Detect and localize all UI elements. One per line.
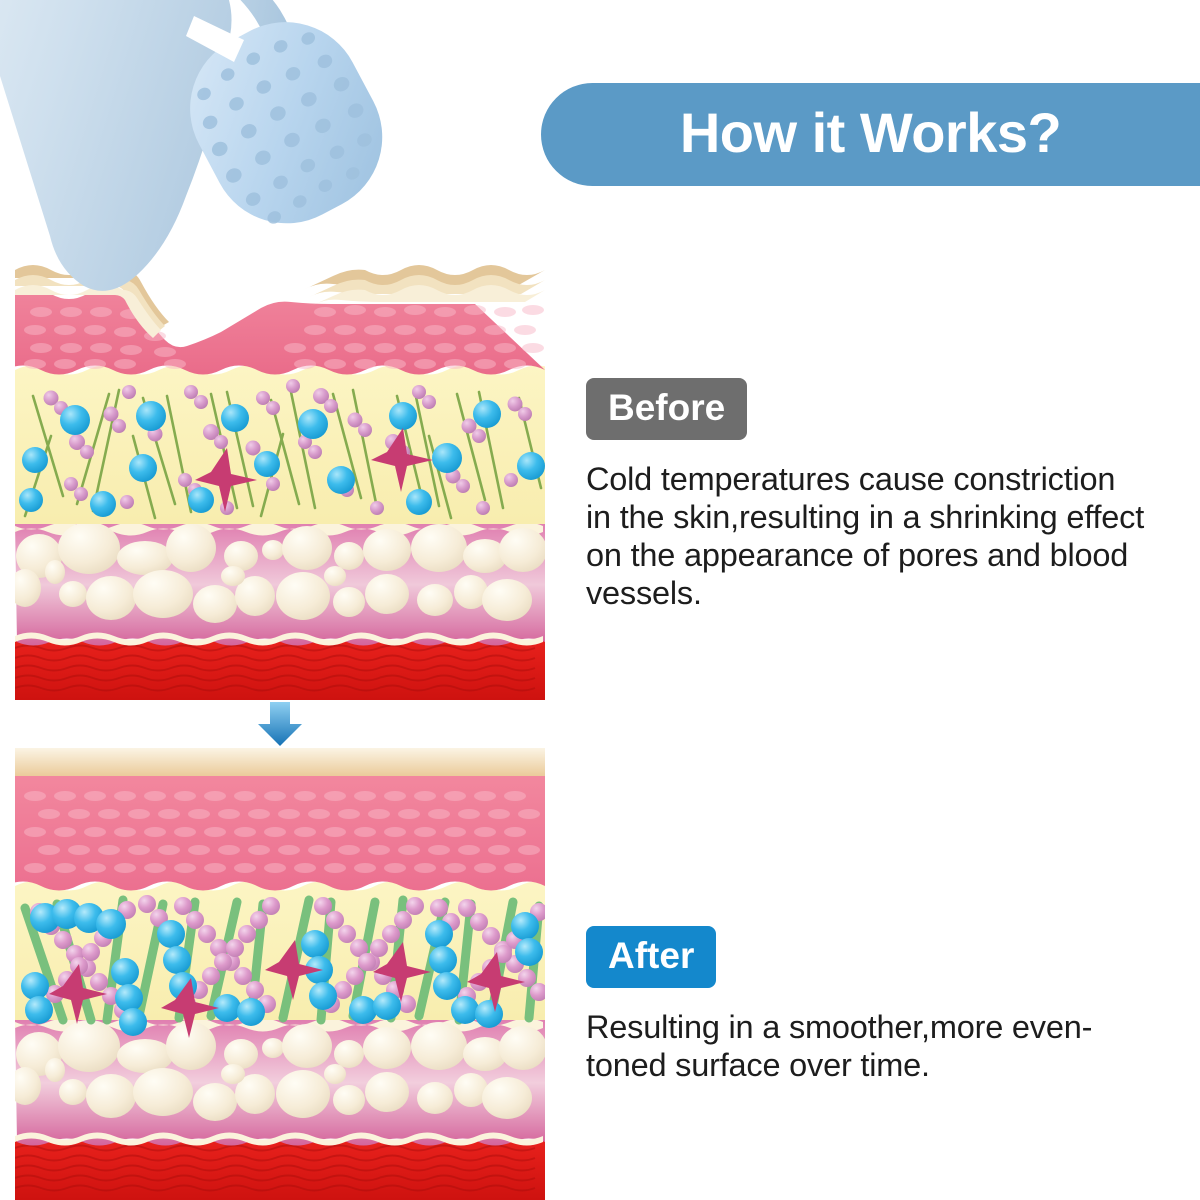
ice-roller-product: I (0, 0, 450, 366)
before-section: Before Cold temperatures cause constrict… (586, 378, 1186, 612)
before-badge: Before (586, 378, 747, 440)
skin-diagram-after (15, 748, 545, 1200)
how-it-works-banner: How it Works? (541, 83, 1200, 186)
after-section: After Resulting in a smoother,more even-… (586, 926, 1186, 1084)
page-title: How it Works? (680, 105, 1061, 165)
down-arrow (246, 700, 314, 748)
after-description: Resulting in a smoother,more even- toned… (586, 1008, 1186, 1084)
before-description: Cold temperatures cause constriction in … (586, 460, 1186, 612)
after-badge: After (586, 926, 716, 988)
infographic-canvas: I (0, 0, 1200, 1200)
